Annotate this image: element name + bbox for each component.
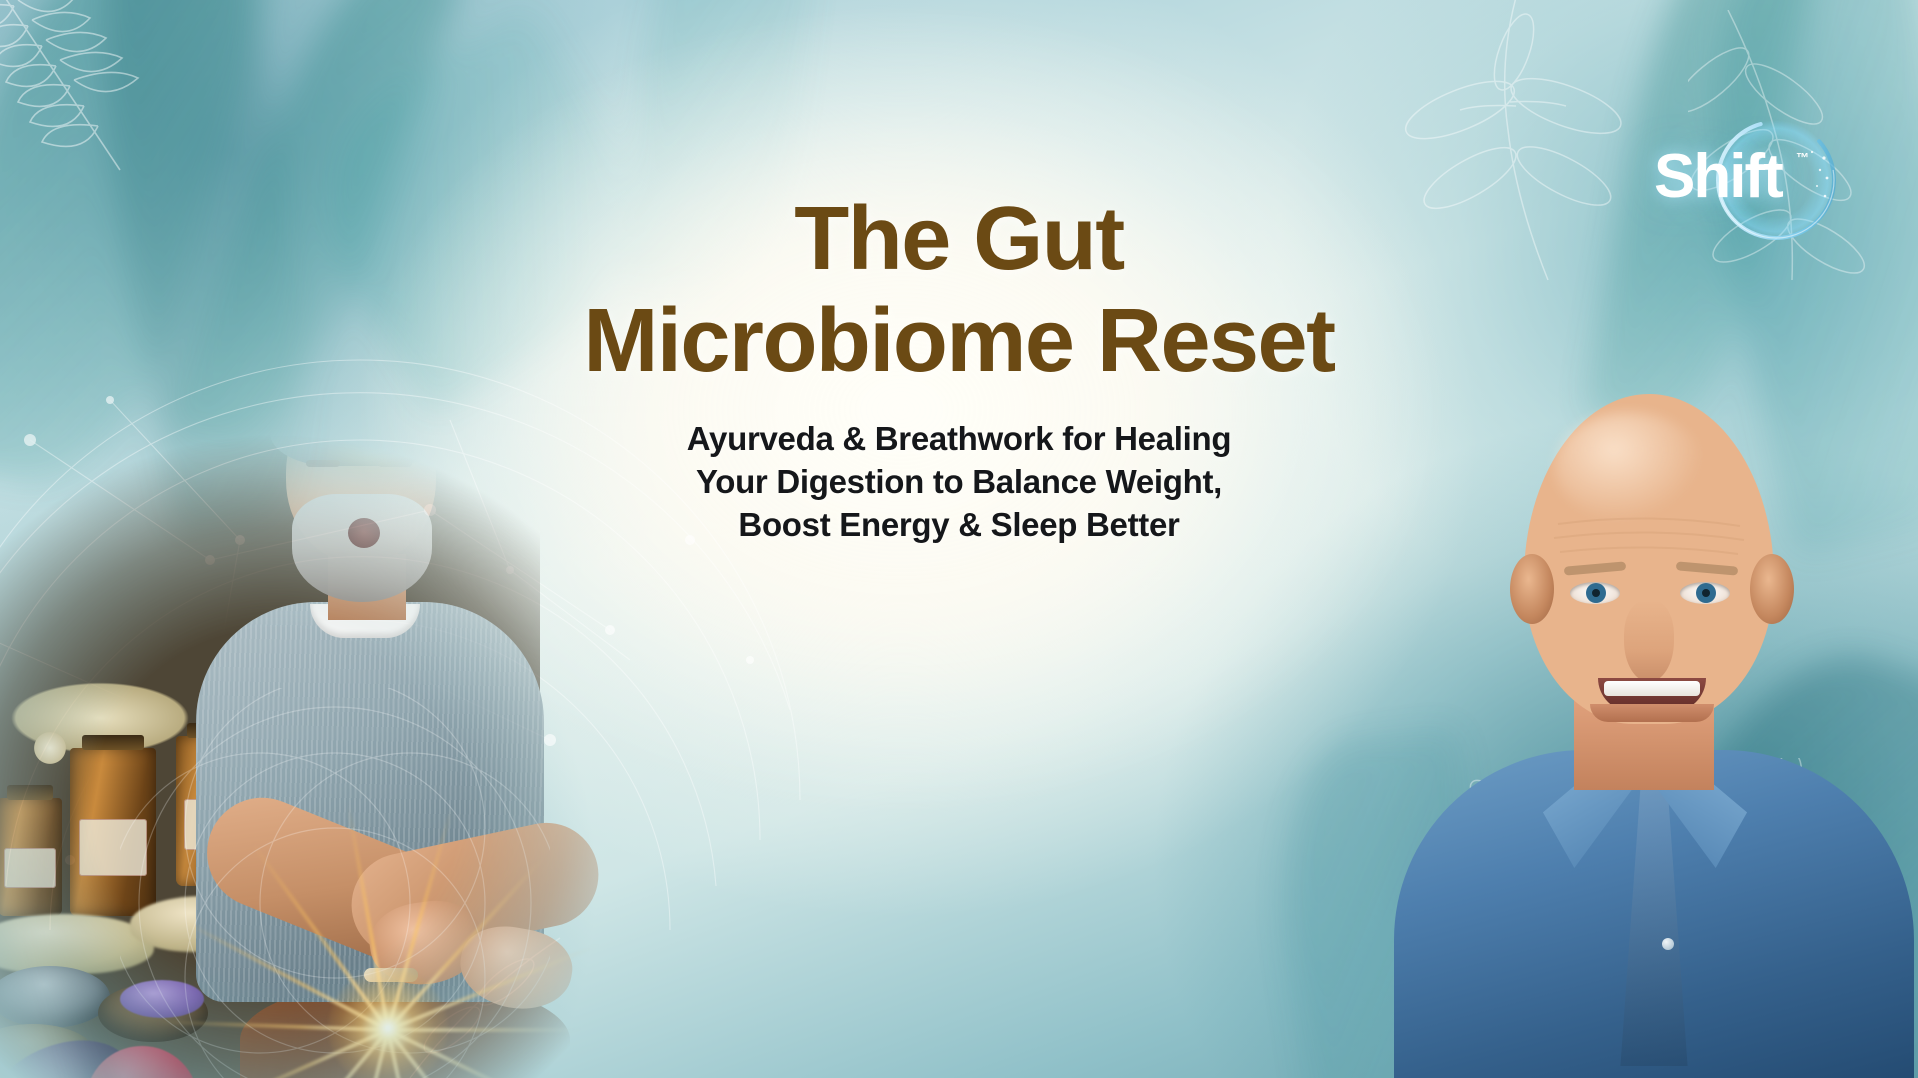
subheadline-block: Ayurveda & Breathwork for Healing Your D…: [0, 418, 1918, 547]
headline-block: The Gut Microbiome Reset: [0, 196, 1918, 385]
trademark-symbol: ™: [1796, 150, 1809, 165]
subheadline-line-1: Ayurveda & Breathwork for Healing: [0, 418, 1918, 461]
shift-logo-wordmark: Shift: [1654, 146, 1782, 208]
headline-line-1: The Gut: [0, 196, 1918, 282]
headline-line-2: Microbiome Reset: [0, 298, 1918, 384]
subheadline-line-2: Your Digestion to Balance Weight,: [0, 461, 1918, 504]
denim-shirt: [1394, 750, 1914, 1078]
subheadline-line-3: Boost Energy & Sleep Better: [0, 504, 1918, 547]
promo-banner: The Gut Microbiome Reset Ayurveda & Brea…: [0, 0, 1918, 1078]
shift-logo[interactable]: Shift ™: [1654, 112, 1844, 248]
